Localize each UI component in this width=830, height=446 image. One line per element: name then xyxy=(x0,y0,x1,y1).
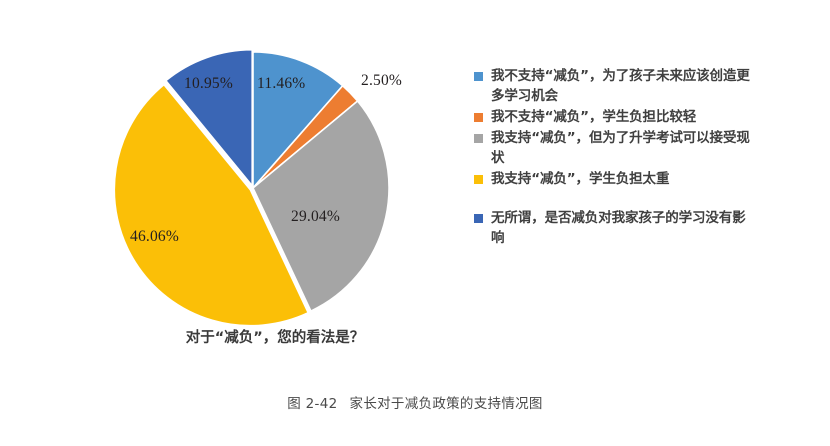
legend-item-label: 我不支持“减负”，为了孩子未来应该创造更多学习机会 xyxy=(491,66,754,106)
legend-swatch-icon xyxy=(474,214,483,223)
legend-item[interactable]: 我支持“减负”，但为了升学考试可以接受现状 xyxy=(474,128,754,168)
pie-slice-group xyxy=(114,50,389,326)
figure-caption-number: 图 2-42 xyxy=(287,396,337,412)
chart-axis-title: 对于“减负”，您的看法是？ xyxy=(115,326,435,347)
pie-data-label: 2.50% xyxy=(361,72,402,90)
legend-item-label: 无所谓，是否减负对我家孩子的学习没有影响 xyxy=(491,208,754,248)
figure-caption-text: 家长对于减负政策的支持情况图 xyxy=(350,396,543,412)
legend-swatch-icon xyxy=(474,134,483,143)
pie-chart: 11.46%2.50%29.04%46.06%10.95% 对于“减负”，您的看… xyxy=(95,30,445,360)
legend-swatch-icon xyxy=(474,72,483,81)
legend-item-label: 我支持“减负”，学生负担太重 xyxy=(491,169,669,189)
figure-root: 11.46%2.50%29.04%46.06%10.95% 对于“减负”，您的看… xyxy=(0,0,830,446)
legend-item[interactable]: 无所谓，是否减负对我家孩子的学习没有影响 xyxy=(474,208,754,248)
figure-caption: 图 2-42家长对于减负政策的支持情况图 xyxy=(0,392,830,412)
legend-item-label: 我支持“减负”，但为了升学考试可以接受现状 xyxy=(491,128,754,168)
legend-swatch-icon xyxy=(474,175,483,184)
legend-item[interactable]: 我支持“减负”，学生负担太重 xyxy=(474,169,754,189)
legend-item[interactable]: 我不支持“减负”，为了孩子未来应该创造更多学习机会 xyxy=(474,66,754,106)
legend-item-label: 我不支持“减负”，学生负担比较轻 xyxy=(491,107,696,127)
legend-swatch-icon xyxy=(474,113,483,122)
pie-data-label: 29.04% xyxy=(291,208,340,226)
pie-data-label: 10.95% xyxy=(184,75,233,93)
pie-data-label: 11.46% xyxy=(257,75,305,93)
pie-data-label: 46.06% xyxy=(130,228,179,246)
chart-legend: 我不支持“减负”，为了孩子未来应该创造更多学习机会我不支持“减负”，学生负担比较… xyxy=(474,66,754,249)
legend-item[interactable]: 我不支持“减负”，学生负担比较轻 xyxy=(474,107,754,127)
